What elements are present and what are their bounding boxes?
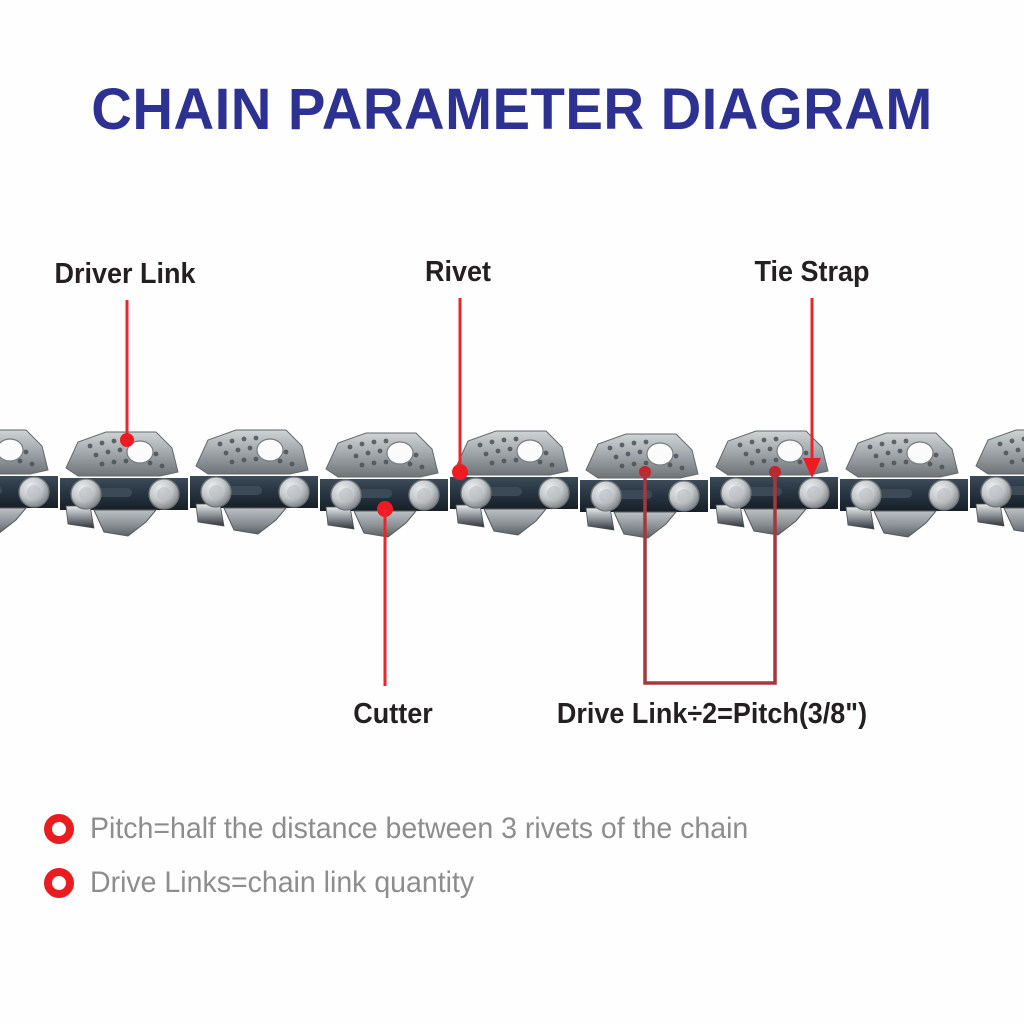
callout-label-tie-strap: Tie Strap — [755, 256, 870, 289]
note-text-pitch: Pitch=half the distance between 3 rivets… — [90, 812, 748, 846]
callout-label-pitch-formula: Drive Link÷2=Pitch(3/8") — [557, 698, 867, 731]
diagram-page: CHAIN PARAMETER DIAGRAM — [0, 0, 1024, 1024]
notes-list: Pitch=half the distance between 3 rivets… — [44, 812, 1004, 920]
callout-label-rivet: Rivet — [425, 256, 491, 289]
callout-label-driver-link: Driver Link — [55, 258, 196, 291]
note-text-drive-links: Drive Links=chain link quantity — [90, 866, 474, 900]
note-item: Pitch=half the distance between 3 rivets… — [44, 812, 1004, 846]
callout-label-cutter: Cutter — [353, 698, 432, 731]
page-title: CHAIN PARAMETER DIAGRAM — [15, 76, 1008, 143]
ring-bullet-icon — [44, 868, 74, 898]
ring-bullet-icon — [44, 814, 74, 844]
chain-segments — [0, 430, 1024, 538]
note-item: Drive Links=chain link quantity — [44, 866, 1004, 900]
chainsaw-chain-illustration — [0, 400, 1024, 560]
